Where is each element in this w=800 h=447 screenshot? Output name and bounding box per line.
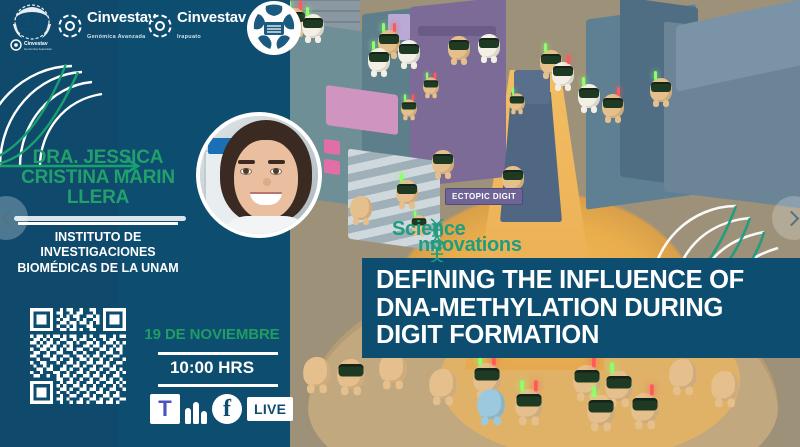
- character: [578, 84, 600, 108]
- character: [509, 93, 525, 110]
- divider-2: [158, 352, 278, 355]
- character: [573, 365, 601, 395]
- character: [350, 196, 372, 220]
- chevron-left-icon: [1, 210, 17, 226]
- event-date: 19 DE NOVIEMBRE: [132, 326, 292, 343]
- broadcast-channels: T f LIVE: [150, 394, 293, 424]
- character: [605, 371, 633, 401]
- character: [302, 14, 324, 38]
- logo-cinvestav-genomica: Cinvestav Genómica Avanzada: [58, 10, 156, 42]
- character: [396, 180, 418, 204]
- avatar-pupil-left: [243, 168, 249, 174]
- character: [368, 48, 390, 72]
- character: [669, 359, 697, 389]
- qr-code[interactable]: [30, 308, 126, 404]
- slide-progress-bar[interactable]: [14, 216, 186, 221]
- avatar-nose: [263, 178, 271, 186]
- character: [587, 395, 615, 425]
- speaker-avatar: [196, 112, 322, 238]
- webinar-poster-slide: ECTOPIC DIGIT: [0, 0, 800, 447]
- avatar-brow-left: [238, 160, 255, 164]
- ectopic-digit-sign: ECTOPIC DIGIT: [445, 188, 523, 205]
- character: [432, 150, 454, 174]
- microsoft-teams-icon[interactable]: T: [150, 394, 180, 424]
- character: [650, 78, 672, 102]
- character: [429, 369, 457, 399]
- avatar-pupil-right: [273, 168, 279, 174]
- avatar-brow-right: [268, 160, 285, 164]
- facebook-icon[interactable]: f: [212, 394, 242, 424]
- talk-title: DEFINING THE INFLUENCE OF DNA-METHYLATIO…: [376, 267, 792, 350]
- speaker-name: DRA. JESSICA CRISTINA MARIN LLERA: [0, 148, 196, 208]
- header-logos: 20 20 Cinvestav Genómica Avanzada: [0, 0, 300, 56]
- divider-3: [158, 384, 278, 387]
- event-time: 10:00 HRS: [132, 358, 292, 378]
- chevron-right-icon: [783, 210, 799, 226]
- machine-pink-button-2: [324, 159, 340, 175]
- character: [401, 99, 417, 116]
- live-badge: LIVE: [247, 397, 293, 421]
- machine-pink-button-1: [324, 139, 340, 155]
- institution-seal-icon: [246, 0, 302, 56]
- qr-code-image: [30, 308, 126, 404]
- character: [398, 40, 420, 64]
- teams-people-icon: [185, 394, 207, 424]
- speaker-affiliation: INSTITUTO DE INVESTIGACIONES BIOMÉDICAS …: [0, 230, 196, 276]
- divider-1: [18, 222, 178, 225]
- talk-title-band: DEFINING THE INFLUENCE OF DNA-METHYLATIO…: [362, 258, 800, 358]
- character: [478, 34, 500, 58]
- character: [423, 77, 439, 94]
- character: [502, 166, 524, 190]
- lab-illustration: ECTOPIC DIGIT: [290, 0, 800, 447]
- svg-text:Genómica Avanzada: Genómica Avanzada: [24, 47, 52, 51]
- dna-helix-brand-icon: [428, 218, 446, 262]
- character: [552, 62, 574, 86]
- svg-text:20: 20: [20, 9, 44, 34]
- logo-subtitle: Irapuato: [177, 34, 201, 40]
- character: [303, 357, 331, 387]
- character: [448, 36, 470, 60]
- character: [477, 389, 505, 419]
- character: [711, 371, 739, 401]
- teams-glyph: T: [158, 398, 171, 420]
- logo-subtitle: Genómica Avanzada: [87, 34, 146, 40]
- character: [515, 389, 543, 419]
- facebook-glyph: f: [223, 397, 231, 421]
- anniversary-20-logo: 20 20 Cinvestav Genómica Avanzada: [6, 2, 58, 54]
- logo-wordmark: Cinvestav: [177, 9, 246, 26]
- cinvestav-mark-icon: [148, 14, 172, 38]
- logo-cinvestav-irapuato: Cinvestav Irapuato: [148, 10, 246, 42]
- cinvestav-mark-icon: [58, 14, 82, 38]
- character: [602, 94, 624, 118]
- logo-wordmark: Cinvestav: [87, 9, 156, 26]
- character: [631, 393, 659, 423]
- science-innovations-logo: Science nnovations: [392, 220, 522, 255]
- character: [337, 359, 365, 389]
